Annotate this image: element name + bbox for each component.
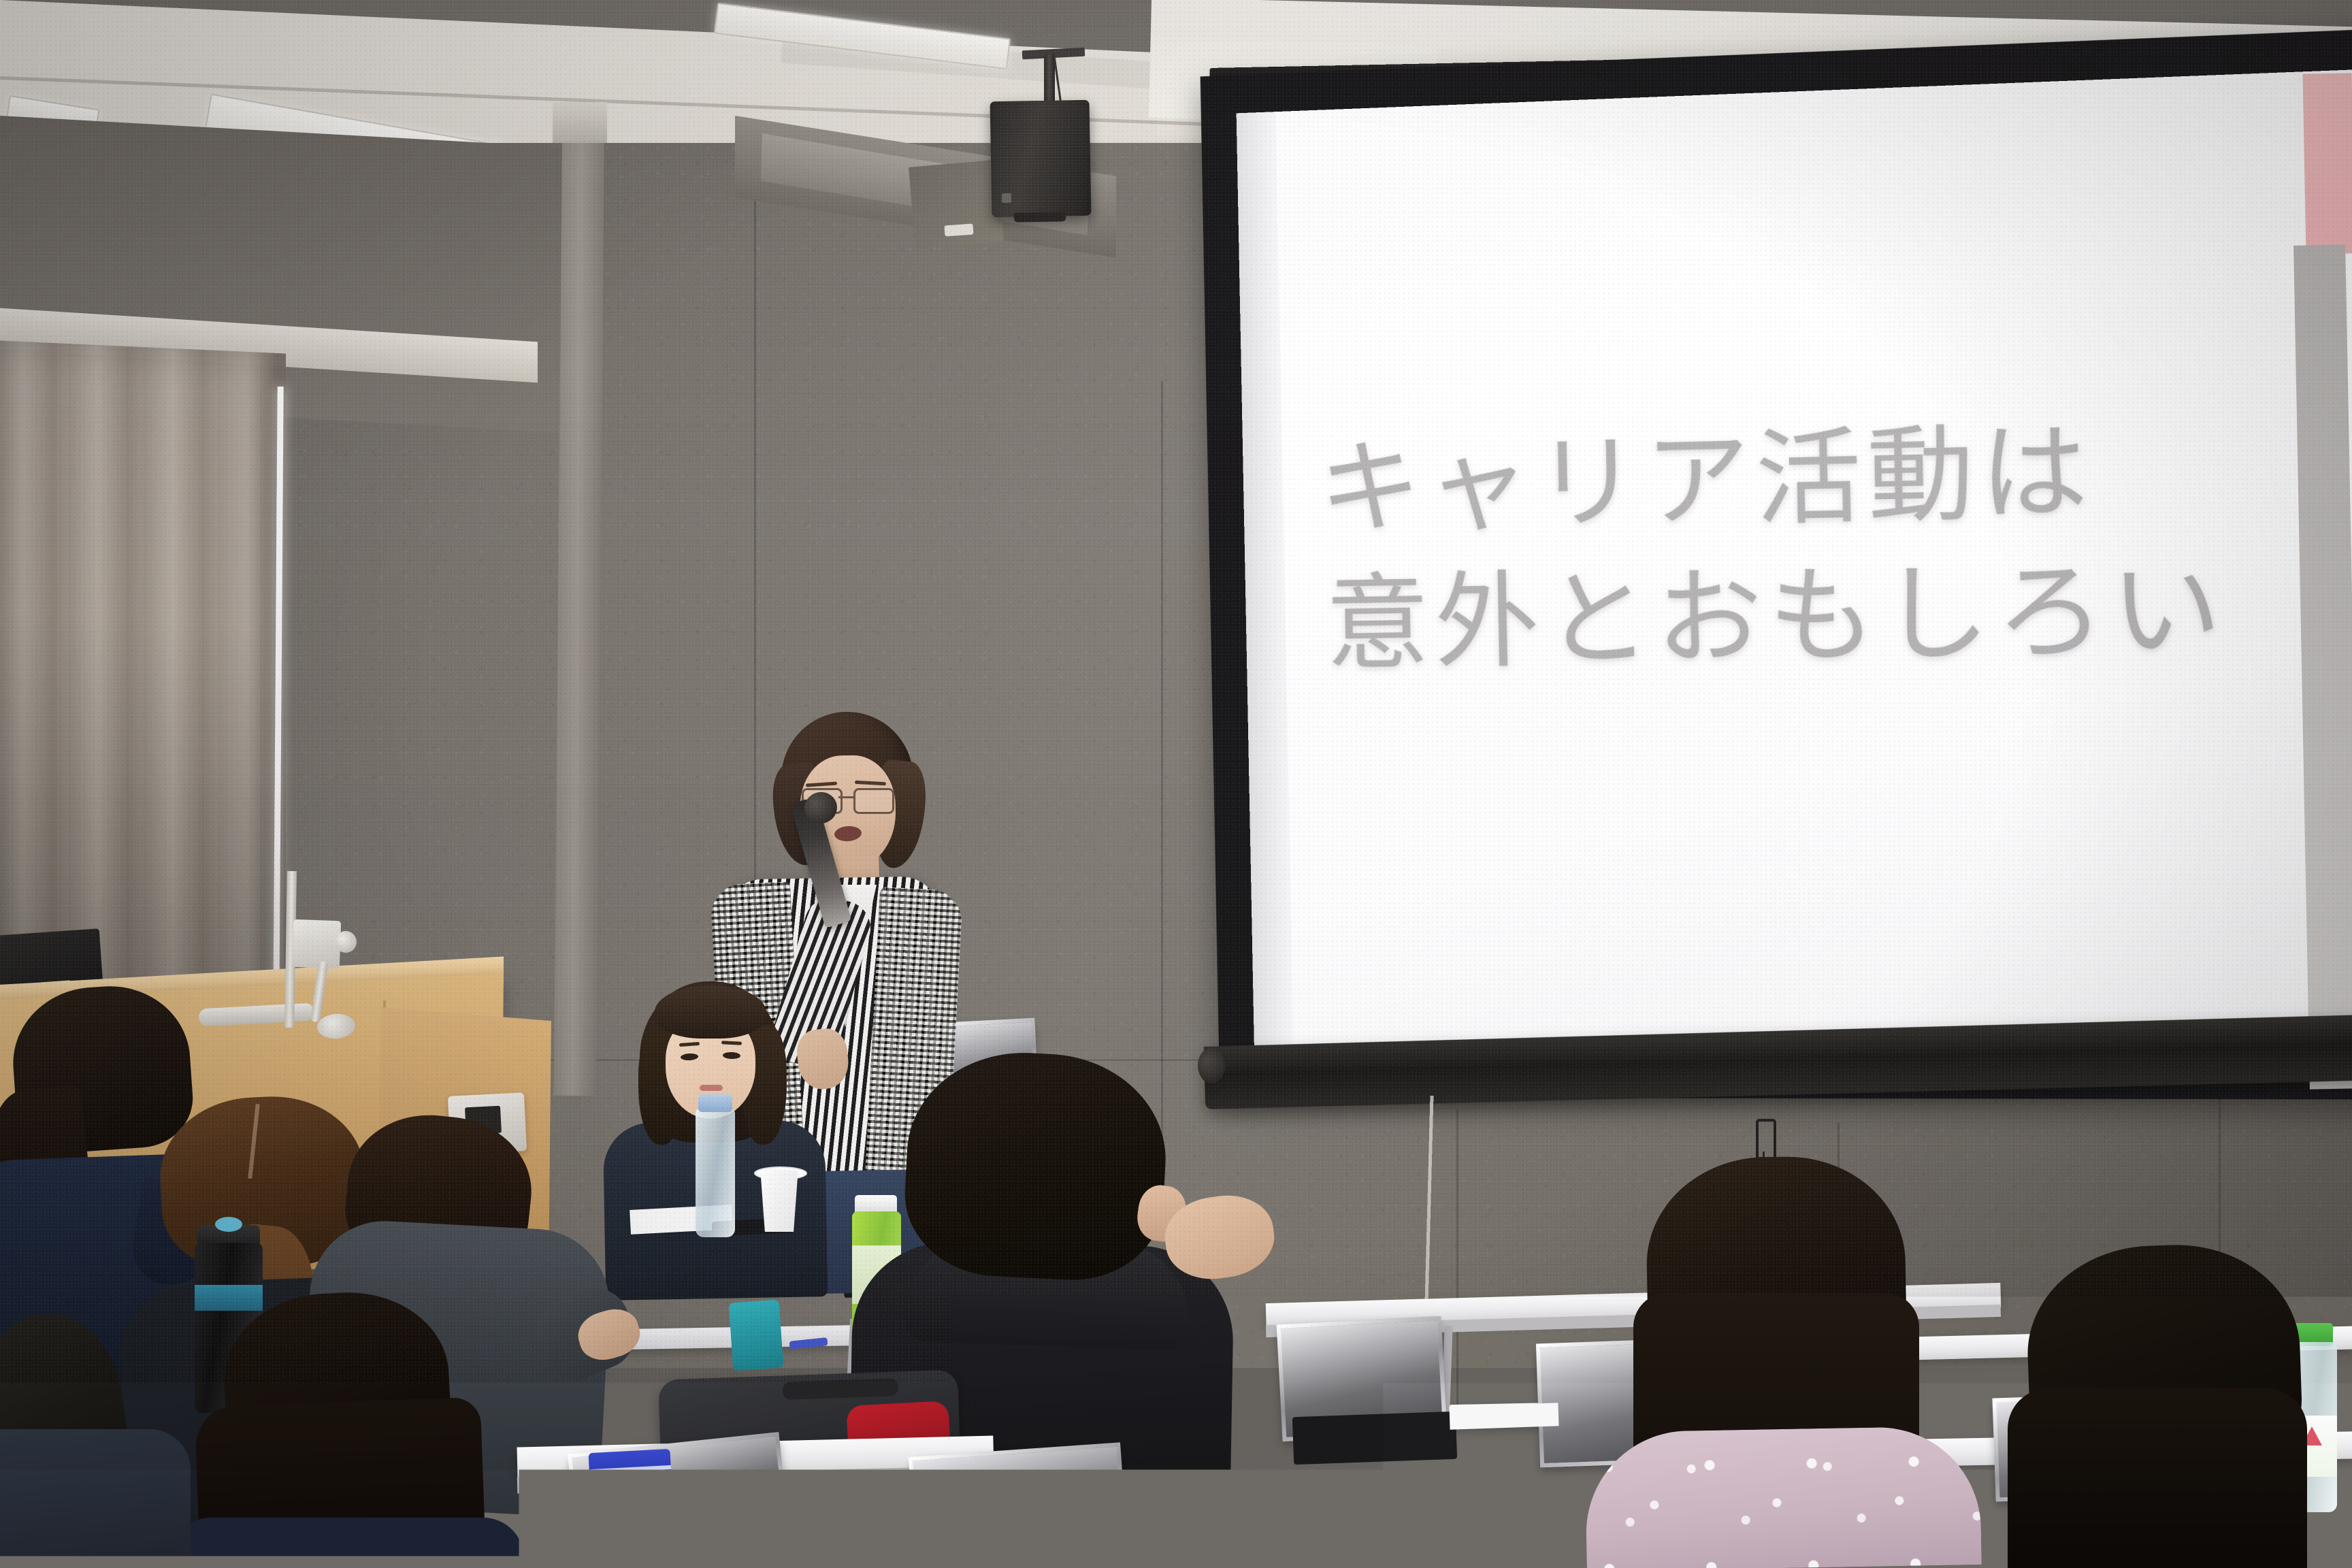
panelist-mouth — [700, 1085, 723, 1091]
wall-mounted-plate — [944, 224, 973, 237]
projection-screen-pull-handle[interactable] — [1756, 1119, 1776, 1160]
pillar-cap — [553, 102, 607, 143]
document-camera-head — [292, 919, 341, 968]
eraser[interactable] — [708, 1497, 732, 1526]
wall-seam — [1161, 381, 1163, 1218]
concrete-pillar — [554, 122, 604, 1096]
speaker-mount-arm — [1044, 54, 1055, 106]
slide-line-1: キャリア活動は — [1318, 396, 2352, 557]
thermos-label — [195, 1285, 263, 1311]
thermos-button[interactable] — [215, 1217, 242, 1232]
audience-shoulders — [0, 1429, 191, 1568]
chair-seat — [1292, 1411, 1457, 1465]
speaker-bracket-foot — [1014, 212, 1066, 222]
panelist-bangs — [655, 985, 766, 1039]
audience-shoulders — [1584, 1426, 1981, 1568]
screen-accent-strip — [2302, 73, 2352, 254]
lecture-hall-photo: キャリア活動は 意外とおもしろい — [0, 0, 2352, 1568]
slide-text-block: キャリア活動は 意外とおもしろい — [1318, 396, 2352, 693]
audience-shoulders — [170, 1518, 524, 1568]
speaker-logo — [1002, 193, 1011, 203]
glasses-bridge — [838, 796, 855, 798]
slide-line-2: 意外とおもしろい — [1324, 536, 2352, 693]
document-camera-lens — [335, 931, 357, 953]
wall-seam — [1456, 1109, 1458, 1409]
bottle-cap — [698, 1094, 732, 1112]
paper-sheet — [1449, 1403, 1558, 1430]
teal-pouch[interactable] — [729, 1300, 784, 1371]
table — [734, 1499, 1212, 1568]
audience-hair — [2008, 1388, 2307, 1568]
clear-water-bottle[interactable] — [696, 1108, 735, 1237]
glasses-lens — [853, 788, 894, 814]
